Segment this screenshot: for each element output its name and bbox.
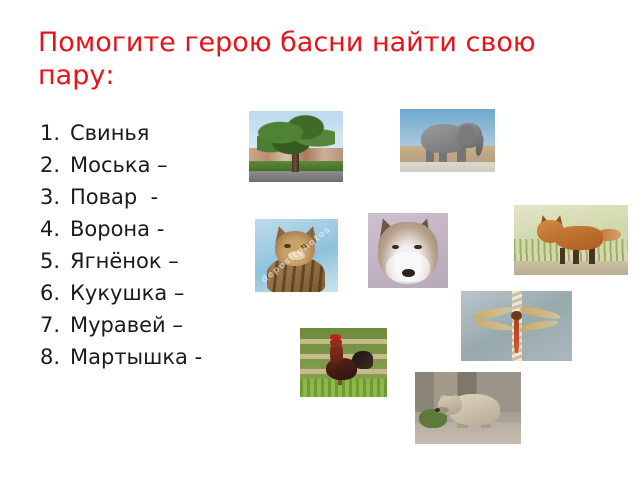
list-item-label: Муравей – — [70, 309, 183, 341]
list-item-number: 1. — [40, 117, 70, 149]
slide-canvas: Помогите герою басни найти свою пару: 1.… — [0, 0, 640, 480]
fox-illustration — [514, 205, 628, 275]
list-item-number: 4. — [40, 213, 70, 245]
dragonfly-illustration — [461, 291, 572, 361]
dragonfly-photo — [461, 291, 572, 361]
list-item-number: 2. — [40, 149, 70, 181]
bear-illustration — [415, 372, 521, 444]
page-title: Помогите герою басни найти свою пару: — [38, 26, 618, 92]
bear-photo — [415, 372, 521, 444]
list-item-number: 3. — [40, 181, 70, 213]
list-item: 7. Муравей – — [40, 309, 300, 341]
list-item-label: Моська – — [70, 149, 168, 181]
rooster-photo — [300, 328, 387, 397]
list-item-label: Ягнёнок – — [70, 245, 179, 277]
list-item-number: 8. — [40, 341, 70, 373]
list-item-label: Свинья — [70, 117, 149, 149]
list-item-number: 5. — [40, 245, 70, 277]
elephant-photo — [400, 109, 495, 172]
list-item-number: 6. — [40, 277, 70, 309]
list-item: 8. Мартышка - — [40, 341, 300, 373]
rooster-illustration — [300, 328, 387, 397]
cat-photo: depositphotos — [255, 219, 338, 292]
wolf-photo — [368, 213, 448, 288]
tree-photo — [249, 111, 343, 182]
list-item-label: Мартышка - — [70, 341, 202, 373]
cat-illustration: depositphotos — [255, 219, 338, 292]
list-item-number: 7. — [40, 309, 70, 341]
wolf-illustration — [368, 213, 448, 288]
list-item: 3. Повар - — [40, 181, 300, 213]
list-item-label: Повар - — [70, 181, 158, 213]
elephant-illustration — [400, 109, 495, 172]
list-item-label: Кукушка – — [70, 277, 184, 309]
list-item-label: Ворона - — [70, 213, 164, 245]
fox-photo — [514, 205, 628, 275]
tree-illustration — [249, 111, 343, 182]
